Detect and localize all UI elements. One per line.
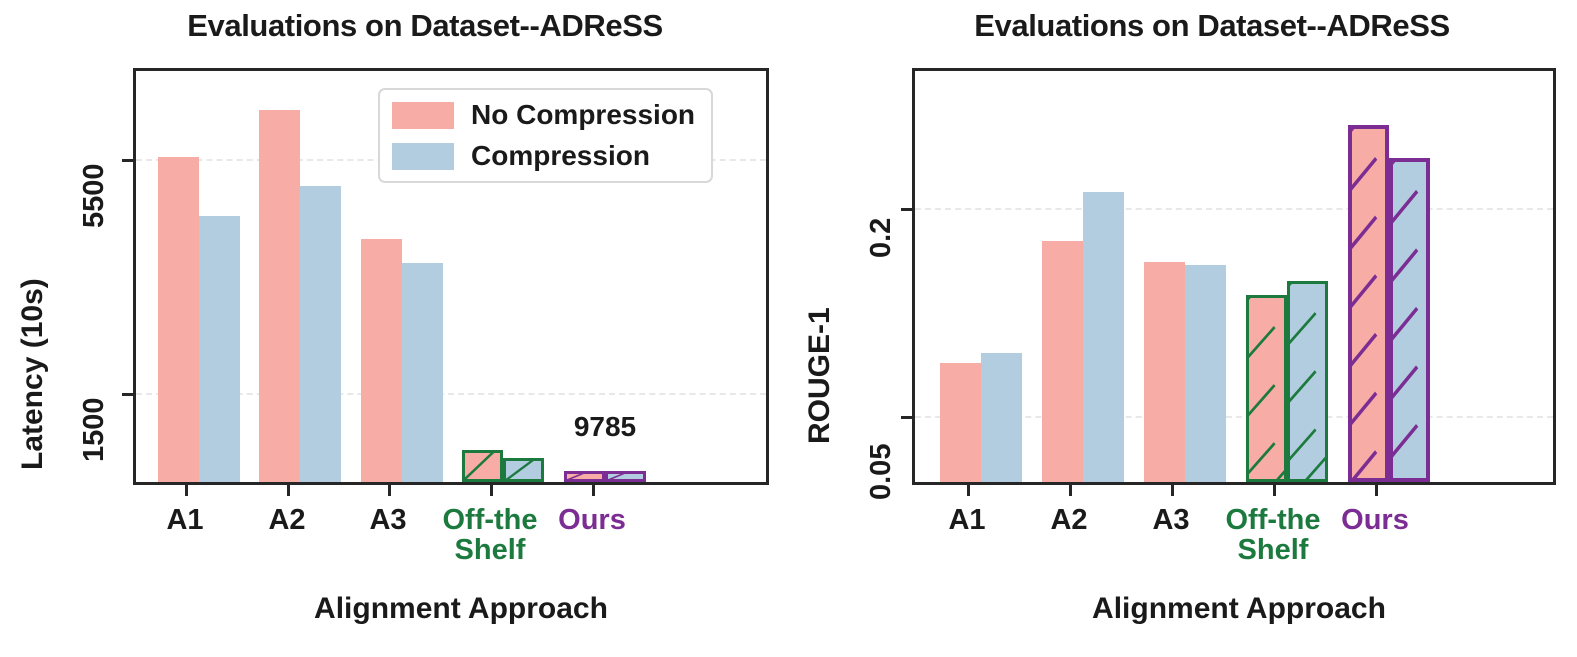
bar-ours-compression: [605, 471, 646, 482]
bar-a1-compression: [199, 216, 240, 482]
figure-container: Evaluations on Dataset--ADReSS Latency (…: [0, 0, 1577, 657]
hatch-pattern-purple: [1393, 162, 1426, 478]
y-tick-mark-0p2: [901, 208, 912, 211]
bar-offtheshelf-compression: [503, 458, 544, 482]
y-axis-title-left: Latency (10s): [16, 278, 50, 470]
chart-panel-rouge: Evaluations on Dataset--ADReSS ROUGE-1 0…: [789, 0, 1577, 657]
bar-a2-no-compression: [259, 110, 300, 482]
bar-a2-no-compression: [1042, 241, 1083, 482]
legend-label-compression: Compression: [471, 140, 650, 172]
bar-a3-compression: [402, 263, 443, 482]
legend-swatch-no-compression: [392, 102, 454, 129]
y-tick-label-5500: 5500: [78, 163, 111, 228]
bar-ours-no-compression: [564, 471, 605, 482]
legend-item-no-compression: No Compression: [392, 99, 695, 131]
x-tick-mark-a1: [967, 485, 970, 496]
x-tick-mark-ours: [592, 485, 595, 496]
y-tick-mark-0p05: [901, 416, 912, 419]
y-tick-mark-1500: [122, 393, 133, 396]
bar-offtheshelf-no-compression: [462, 450, 503, 482]
x-tick-mark-a1: [185, 485, 188, 496]
bar-a2-compression: [300, 186, 341, 482]
x-tick-mark-offtheshelf: [490, 485, 493, 496]
bar-a2-compression: [1083, 192, 1124, 482]
x-axis-title-left: Alignment Approach: [141, 592, 781, 626]
x-axis-title-right: Alignment Approach: [919, 592, 1559, 626]
bar-ours-compression: [1389, 158, 1430, 482]
x-tick-mark-a2: [287, 485, 290, 496]
chart-title-left: Evaluations on Dataset--ADReSS: [60, 8, 790, 44]
x-tick-mark-a3: [388, 485, 391, 496]
y-tick-mark-5500: [122, 159, 133, 162]
legend-item-compression: Compression: [392, 140, 695, 172]
bar-a1-no-compression: [940, 363, 981, 482]
hatch-pattern-green: [465, 453, 500, 479]
bar-a3-no-compression: [361, 239, 402, 482]
hatch-pattern-green: [1249, 298, 1284, 479]
hatch-pattern-green: [506, 461, 541, 479]
gridline-0p2: [915, 208, 1553, 210]
hatch-pattern-green: [1290, 284, 1325, 479]
x-tick-mark-a3: [1171, 485, 1174, 496]
bar-offtheshelf-compression: [1287, 281, 1328, 482]
hatch-pattern-purple: [608, 474, 643, 479]
y-tick-label-0p2: 0.2: [865, 218, 898, 258]
bar-ours-no-compression: [1348, 125, 1389, 482]
hatch-pattern-purple: [1352, 129, 1385, 478]
y-tick-label-0p05: 0.05: [865, 444, 898, 500]
bar-a3-compression: [1185, 265, 1226, 482]
legend-swatch-compression: [392, 143, 454, 170]
bar-a1-compression: [981, 353, 1022, 482]
hatch-pattern-purple: [567, 474, 602, 479]
x-tick-label-ours: Ours: [1315, 505, 1435, 535]
legend-left: No Compression Compression: [378, 88, 713, 183]
x-tick-mark-a2: [1069, 485, 1072, 496]
y-axis-title-right: ROUGE-1: [803, 307, 837, 444]
bar-a3-no-compression: [1144, 262, 1185, 482]
bar-offtheshelf-no-compression: [1246, 295, 1287, 482]
bar-a1-no-compression: [158, 157, 199, 482]
y-tick-label-1500: 1500: [78, 397, 111, 462]
x-tick-mark-ours: [1375, 485, 1378, 496]
chart-panel-latency: Evaluations on Dataset--ADReSS Latency (…: [0, 0, 789, 657]
bar-value-label-ours: 9785: [538, 411, 672, 443]
plot-area-right: [912, 68, 1556, 485]
x-tick-mark-offtheshelf: [1273, 485, 1276, 496]
x-tick-label-ours: Ours: [532, 505, 652, 535]
legend-label-no-compression: No Compression: [471, 99, 695, 131]
chart-title-right: Evaluations on Dataset--ADReSS: [847, 8, 1577, 44]
plot-area-left: 9785 No Compression Compression: [133, 68, 769, 485]
